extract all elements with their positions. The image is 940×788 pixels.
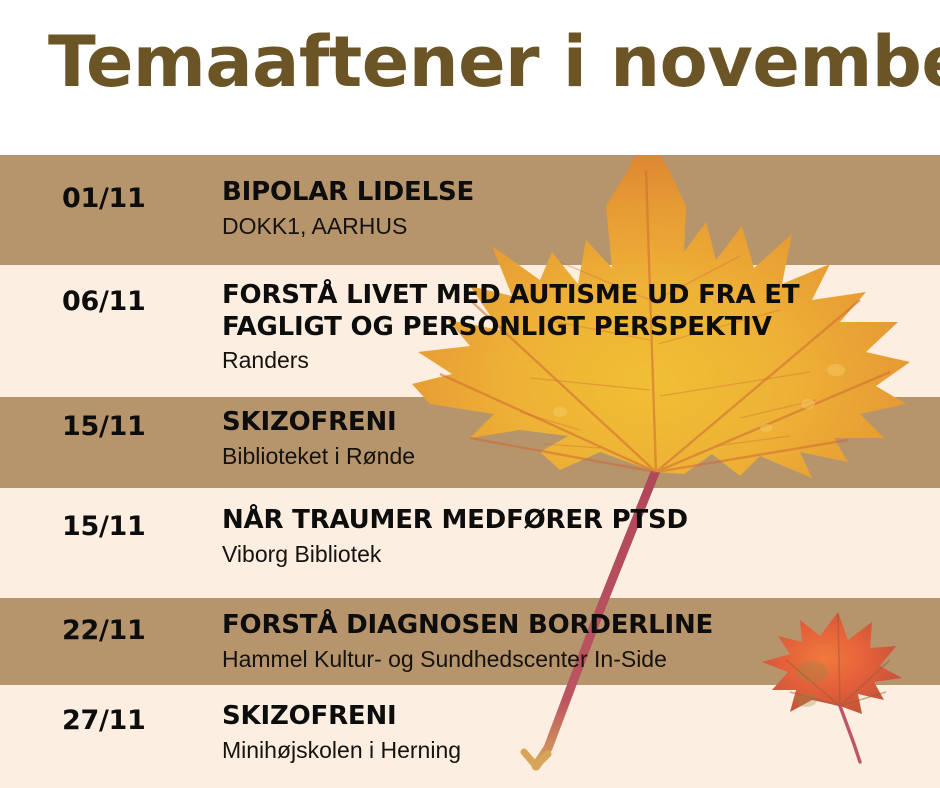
header: Temaaftener i november [0,0,940,155]
event-venue: Viborg Bibliotek [222,540,922,569]
event-date: 01/11 [62,183,212,214]
event-body: FORSTÅ DIAGNOSEN BORDERLINE Hammel Kultu… [222,610,922,673]
event-venue: Randers [222,346,922,375]
event-body: NÅR TRAUMER MEDFØRER PTSD Viborg Bibliot… [222,505,922,568]
event-body: SKIZOFRENI Minihøjskolen i Herning [222,701,922,764]
poster-root: Temaaftener i november 01/11 BIPOLAR LID… [0,0,940,788]
event-date: 27/11 [62,705,212,736]
event-body: FORSTÅ LIVET MED AUTISME UD FRA ET FAGLI… [222,280,922,375]
event-venue: Minihøjskolen i Herning [222,736,922,765]
event-body: BIPOLAR LIDELSE DOKK1, AARHUS [222,177,922,240]
event-venue: Biblioteket i Rønde [222,442,922,471]
event-title: FORSTÅ LIVET MED AUTISME UD FRA ET FAGLI… [222,280,922,343]
event-title: SKIZOFRENI [222,407,922,439]
event-venue: Hammel Kultur- og Sundhedscenter In-Side [222,645,922,674]
event-list: 01/11 BIPOLAR LIDELSE DOKK1, AARHUS 06/1… [0,155,940,788]
event-date: 15/11 [62,511,212,542]
event-title: NÅR TRAUMER MEDFØRER PTSD [222,505,922,537]
page-title: Temaaftener i november [48,26,940,100]
event-title: BIPOLAR LIDELSE [222,177,922,209]
event-title: FORSTÅ DIAGNOSEN BORDERLINE [222,610,922,642]
event-date: 15/11 [62,411,212,442]
event-body: SKIZOFRENI Biblioteket i Rønde [222,407,922,470]
event-venue: DOKK1, AARHUS [222,212,922,241]
event-title: SKIZOFRENI [222,701,922,733]
event-date: 22/11 [62,615,212,646]
event-date: 06/11 [62,286,212,317]
